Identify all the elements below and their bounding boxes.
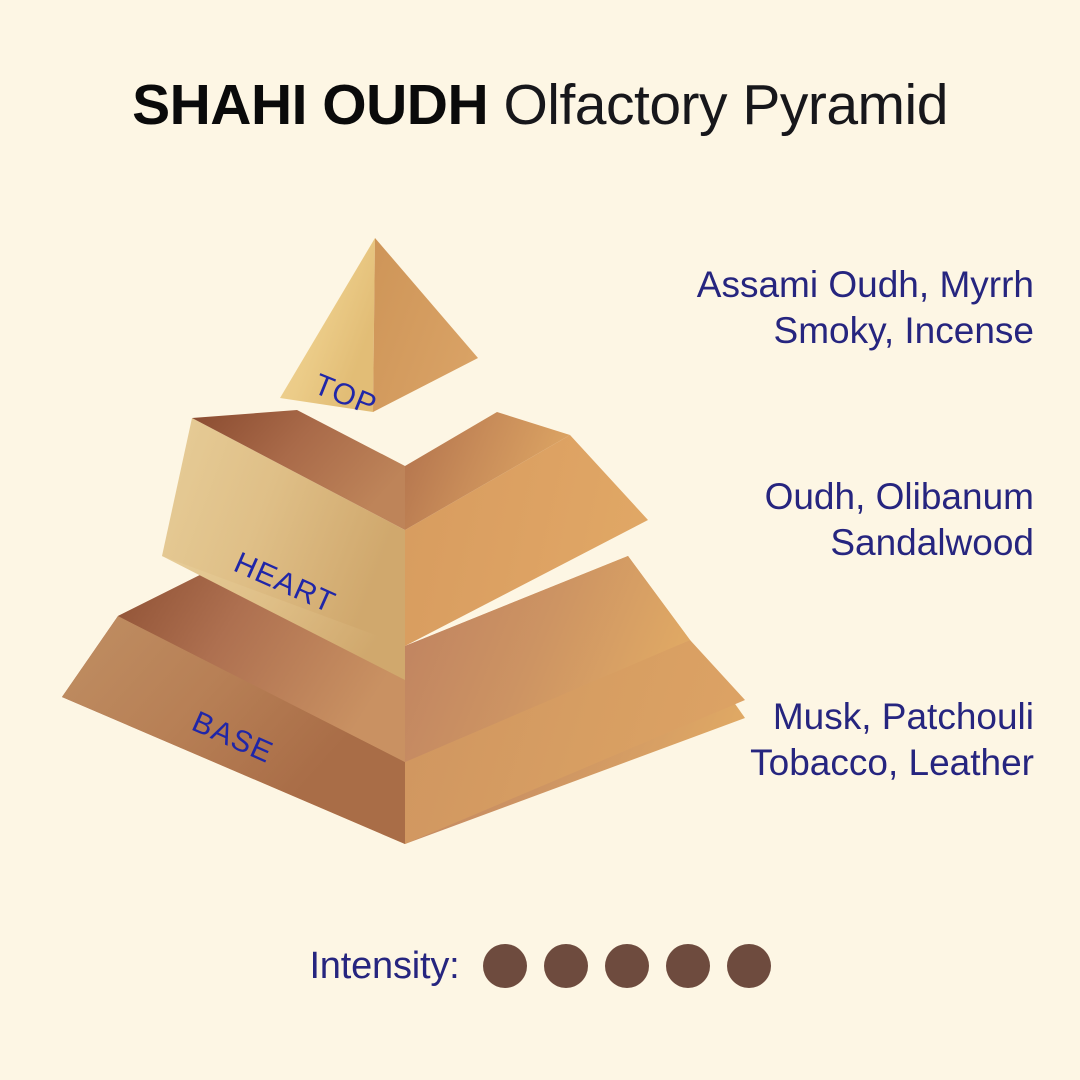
- notes-heart: Oudh, Olibanum Sandalwood: [604, 474, 1034, 565]
- poster-root: SHAHI OUDH Olfactory Pyramid: [0, 0, 1080, 1080]
- intensity-dot-5: [727, 944, 771, 988]
- pyramid-label-heart: HEART: [229, 546, 340, 620]
- intensity-label: Intensity:: [309, 945, 459, 988]
- title-brand: SHAHI OUDH: [132, 73, 488, 137]
- base-face-left: [62, 697, 405, 844]
- notes-top-line-1: Assami Oudh, Myrrh: [604, 262, 1034, 308]
- base-panel-left: [62, 616, 405, 844]
- pyramid-label-base: BASE: [187, 705, 278, 770]
- page-title: SHAHI OUDH Olfactory Pyramid: [0, 72, 1080, 138]
- base-slope-left: [62, 616, 405, 844]
- notes-base-line-2: Tobacco, Leather: [604, 740, 1034, 786]
- intensity-meter: Intensity:: [0, 944, 1080, 988]
- heart-shelf-left: [192, 410, 405, 530]
- intensity-dot-3: [605, 944, 649, 988]
- intensity-dot-2: [544, 944, 588, 988]
- heart-shelf-right: [405, 412, 570, 530]
- notes-heart-line-2: Sandalwood: [604, 520, 1034, 566]
- notes-base: Musk, Patchouli Tobacco, Leather: [604, 694, 1034, 785]
- notes-heart-line-1: Oudh, Olibanum: [604, 474, 1034, 520]
- base-shelf-left: [118, 556, 405, 770]
- heart-panel-left: [162, 556, 405, 680]
- title-subtitle: Olfactory Pyramid: [488, 73, 948, 137]
- heart-left-panel: [162, 418, 405, 646]
- top-face-left: [280, 238, 375, 412]
- pyramid-tier-top[interactable]: [280, 238, 478, 412]
- intensity-dot-4: [666, 944, 710, 988]
- notes-top-line-2: Smoky, Incense: [604, 308, 1034, 354]
- pyramid-tier-heart[interactable]: [162, 410, 648, 680]
- base-face-left-body: [62, 697, 405, 844]
- heart-face-left: [162, 485, 405, 646]
- top-skirt-left: [280, 238, 405, 410]
- top-face-right: [373, 238, 478, 412]
- heart-left-visible: [162, 556, 405, 646]
- intensity-dot-1: [483, 944, 527, 988]
- pyramid-label-top: TOP: [309, 368, 381, 423]
- base-top-shelf-left: [118, 556, 405, 762]
- heart-panel-left-main: [162, 556, 405, 680]
- notes-top: Assami Oudh, Myrrh Smoky, Incense: [604, 262, 1034, 353]
- notes-base-line-1: Musk, Patchouli: [604, 694, 1034, 740]
